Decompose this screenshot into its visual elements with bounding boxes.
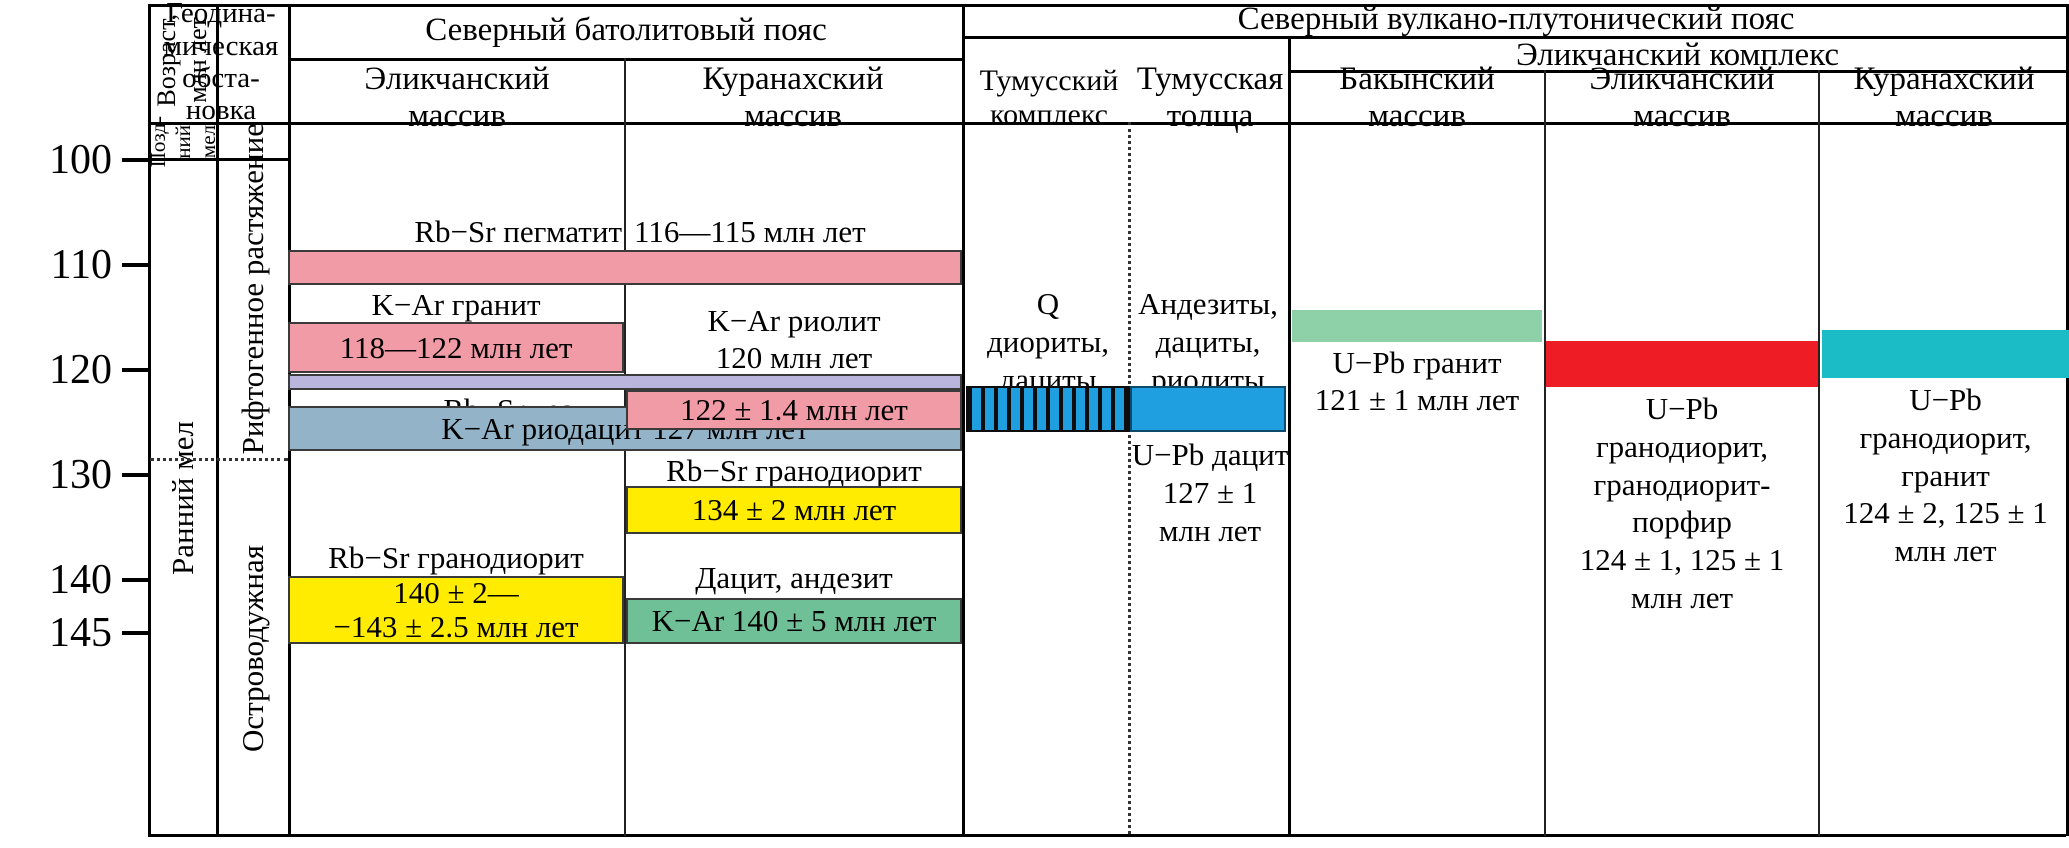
label-kuranakh-vp-l5: млн лет xyxy=(1894,532,1996,570)
setting-arc-label: Островодужная xyxy=(218,460,288,836)
header-col-tumus-tolshcha-l2: толща xyxy=(1167,98,1254,135)
line-elikchanvp-kuranakhvp xyxy=(1818,70,1820,836)
axis-tick-140 xyxy=(122,578,148,582)
label-elikchan-vp-l4: порфир xyxy=(1632,503,1732,541)
bar-bakyn-overlay xyxy=(1292,310,1542,342)
line-complex-bottom xyxy=(1288,70,2066,73)
bar-kar-granite-overlay: 118—122 млн лет xyxy=(288,322,624,373)
label-andesites-l1: Андезиты, xyxy=(1138,285,1278,323)
bar-value-134-overlay: 134 ± 2 млн лет xyxy=(626,486,962,534)
line-tumus-split xyxy=(1128,122,1131,834)
axis-tick-label-120: 120 xyxy=(0,349,112,391)
header-geodynamic-l3: обста- xyxy=(182,62,260,94)
label-kar-granite: K−Ar гранит xyxy=(288,286,624,324)
bar-value-140-overlay: 140 ± 2— −143 ± 2.5 млн лет xyxy=(288,576,624,644)
header-col-kuranakh-bat-l2: массив xyxy=(744,98,842,135)
geochronology-chart: 100 110 120 130 140 145 Возраст, млн лет… xyxy=(0,0,2069,848)
bar-value-kar-140-overlay: K−Ar 140 ± 5 млн лет xyxy=(626,598,962,644)
bar-violet-overlay xyxy=(288,374,962,390)
axis-tick-label-145: 145 xyxy=(0,612,112,654)
epoch-late-l2: ний xyxy=(171,125,196,159)
label-elikchan-vp-l6: млн лет xyxy=(1631,579,1733,617)
header-col-elikchan-vp-l1: Эликчанский xyxy=(1589,61,1774,98)
bar-tumus-striped-overlay xyxy=(966,386,1130,432)
header-col-kuranakh-vp-l1: Куранахский xyxy=(1853,61,2034,98)
bar-value-140-overlay-l2: −143 ± 2.5 млн лет xyxy=(333,610,578,644)
axis-tick-110 xyxy=(122,263,148,267)
line-header-bottom xyxy=(148,122,2066,125)
label-kuranakh-vp-l3: гранит xyxy=(1901,457,1990,495)
label-dacite-andesite: Дацит, андезит xyxy=(626,558,962,598)
label-kuranakh-vp-l4: 124 ± 2, 125 ± 1 xyxy=(1843,494,2048,532)
label-elikchan-vp-l1: U−Pb xyxy=(1646,390,1719,428)
label-rbsr-grd-right: Rb−Sr гранодиорит xyxy=(626,452,962,490)
line-age-geodyn xyxy=(216,4,219,836)
label-q-diorites-l1: Q xyxy=(1037,285,1059,323)
label-andesites-l2: дациты, xyxy=(1156,323,1261,361)
header-col-kuranakh-bat-l1: Куранахский xyxy=(702,61,883,98)
label-q-diorites-l2: диориты, xyxy=(987,323,1109,361)
label-elikchan-vp-l2: гранодиорит, xyxy=(1596,428,1768,466)
header-col-tumus-tolshcha-l1: Тумусская xyxy=(1137,61,1284,98)
header-belt-batholith: Северный батолитовый пояс xyxy=(290,5,962,55)
label-upb-dacite-l1: U−Pb дацит xyxy=(1132,436,1289,474)
label-upb-dacite-l3: млн лет xyxy=(1159,512,1261,550)
axis-tick-label-100: 100 xyxy=(0,139,112,181)
axis-tick-label-110: 110 xyxy=(0,244,112,286)
line-belt-volc-bottom xyxy=(964,36,2066,39)
header-col-tumus-complex-l2: комплекс xyxy=(990,98,1108,132)
label-pegmatite-right: 116—115 млн лет xyxy=(630,213,960,251)
label-pegmatite-left: Rb−Sr пегматит xyxy=(288,213,624,251)
line-bat-volc-belt xyxy=(962,4,965,836)
label-bakyn-l2: 121 ± 1 млн лет xyxy=(1315,381,1519,418)
header-col-bakyn-l1: Бакынский xyxy=(1339,61,1494,98)
label-kar-rhyolite-l2: 120 млн лет xyxy=(716,340,872,377)
frame-top xyxy=(148,4,2066,7)
header-col-bakyn-l2: массив xyxy=(1368,98,1466,135)
axis-tick-100 xyxy=(122,158,148,162)
bar-kuranakh-vp-overlay xyxy=(1822,330,2069,378)
bar-rbsr-granite-value-overlay: 122 ± 1.4 млн лет xyxy=(626,390,962,430)
header-col-elikchan-vp-l2: массив xyxy=(1633,98,1731,135)
bar-pegmatite-overlay xyxy=(288,250,962,285)
line-setting-boundary xyxy=(150,458,288,461)
axis-tick-145 xyxy=(122,631,148,635)
label-upb-dacite-l2: 127 ± 1 xyxy=(1163,474,1258,512)
label-kar-rhyolite-l1: K−Ar риолит xyxy=(707,303,880,340)
header-belt-volcano: Северный вулкано-плутонический пояс xyxy=(966,2,2066,36)
epoch-early-label: Ранний мел xyxy=(150,160,216,836)
header-col-elikchan-bat-l1: Эликчанский xyxy=(364,61,549,98)
label-bakyn-l1: U−Pb гранит xyxy=(1332,344,1501,381)
label-kuranakh-vp-l1: U−Pb xyxy=(1909,381,1982,419)
header-col-kuranakh-vp-l2: массив xyxy=(1895,98,1993,135)
label-elikchan-vp-l5: 124 ± 1, 125 ± 1 xyxy=(1580,541,1785,579)
axis-tick-label-140: 140 xyxy=(0,559,112,601)
label-kuranakh-vp-l2: гранодиорит, xyxy=(1859,419,2031,457)
frame-left xyxy=(148,4,151,836)
header-geodynamic-l2: мическая xyxy=(164,30,279,62)
axis-tick-120 xyxy=(122,368,148,372)
label-rbsr-grd-left: Rb−Sr гранодиорит xyxy=(288,538,624,578)
bar-elikchan-vp-overlay xyxy=(1546,341,1818,387)
header-col-tumus-complex-l1: Тумусский xyxy=(980,64,1119,98)
line-elikchan-kuranakh-bat xyxy=(624,122,626,836)
setting-rift-label: Рифтогенное растяжение xyxy=(218,124,288,454)
line-elikchan-kuranakh-bat-head xyxy=(624,58,626,122)
frame-bottom xyxy=(148,834,2066,837)
bar-value-140-overlay-l1: 140 ± 2— xyxy=(393,576,519,610)
axis-tick-130 xyxy=(122,473,148,477)
noop5 xyxy=(150,0,158,2)
header-col-elikchan-bat-l2: массив xyxy=(408,98,506,135)
axis-tick-label-130: 130 xyxy=(0,454,112,496)
line-belt-bat-bottom xyxy=(288,58,964,61)
bar-tumus-dacite-overlay xyxy=(1130,386,1286,432)
line-tumus-bakyn xyxy=(1288,36,1291,836)
line-bakyn-elikchanvp xyxy=(1544,70,1546,836)
label-elikchan-vp-l3: гранодиорит- xyxy=(1594,466,1771,504)
